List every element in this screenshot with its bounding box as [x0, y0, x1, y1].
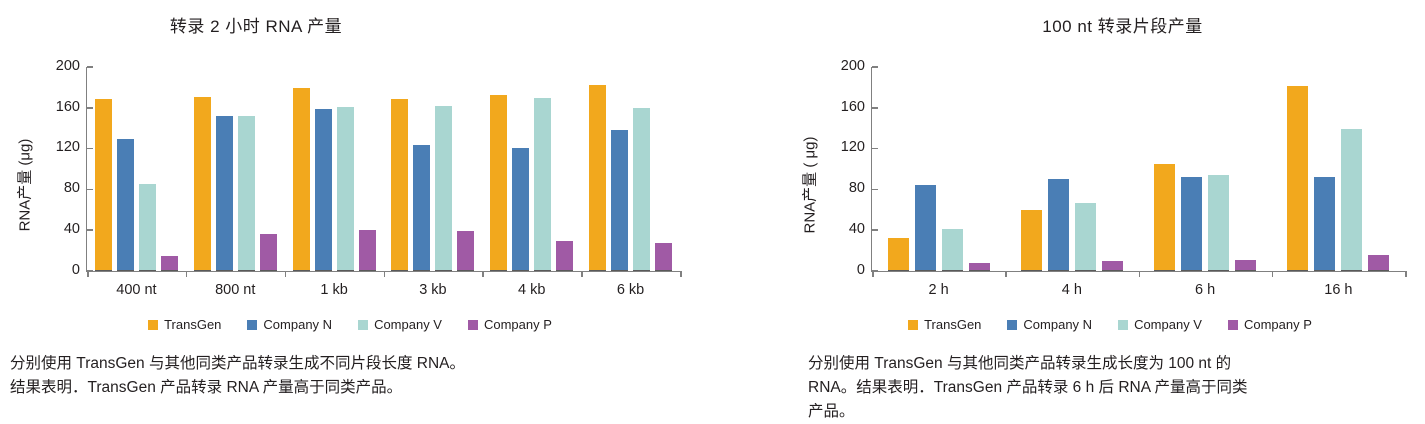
bar-company-v[interactable] [1208, 175, 1229, 271]
bar-transgen[interactable] [888, 238, 909, 271]
legend-label: Company N [263, 317, 332, 332]
y-axis-label-left: RNA产量 (μg) [14, 139, 35, 232]
legend-item-company-n[interactable]: Company N [1007, 317, 1092, 332]
bar-transgen[interactable] [194, 97, 211, 271]
chart-panel-left: 转录 2 小时 RNA 产量 RNA产量 (μg) 04080120160200… [0, 0, 712, 414]
x-axis-tick-label: 6 kb [581, 282, 680, 298]
chart-caption-left: 分别使用 TransGen 与其他同类产品转录生成不同片段长度 RNA。 结果表… [10, 352, 700, 400]
x-axis-tick-mark [1139, 271, 1141, 277]
x-axis-tick-label: 3 kb [383, 282, 482, 298]
legend-label: Company V [374, 317, 442, 332]
bar-company-v[interactable] [1075, 203, 1096, 271]
bar-company-n[interactable] [216, 116, 233, 271]
bar-group: 16 h [1272, 67, 1405, 271]
legend-swatch-icon [1228, 320, 1238, 330]
bar-group: 400 nt [87, 67, 186, 271]
bar-company-v[interactable] [1341, 129, 1362, 271]
plot-wrapper-left: RNA产量 (μg) 04080120160200400 nt800 nt1 k… [40, 60, 680, 310]
bar-group: 2 h [872, 67, 1005, 271]
bar-company-v[interactable] [942, 229, 963, 271]
bar-group: 800 nt [186, 67, 285, 271]
plot-area-right: 040801201602002 h4 h6 h16 h [871, 67, 1405, 272]
x-axis-tick-mark [186, 271, 188, 277]
bar-transgen[interactable] [95, 99, 112, 271]
bar-company-v[interactable] [139, 184, 156, 271]
x-axis-tick-label: 1 kb [285, 282, 384, 298]
x-axis-tick-label: 16 h [1272, 282, 1405, 298]
bar-company-v[interactable] [435, 106, 452, 271]
bar-company-p[interactable] [1235, 260, 1256, 271]
bar-company-p[interactable] [260, 234, 277, 271]
legend-label: TransGen [164, 317, 221, 332]
legend-swatch-icon [468, 320, 478, 330]
legend-item-transgen[interactable]: TransGen [148, 317, 221, 332]
bar-company-p[interactable] [655, 243, 672, 271]
x-axis-tick-mark [285, 271, 287, 277]
bar-group: 6 h [1139, 67, 1272, 271]
x-axis-tick-mark [1005, 271, 1007, 277]
legend-swatch-icon [1007, 320, 1017, 330]
x-axis-tick-label: 800 nt [186, 282, 285, 298]
bar-company-p[interactable] [556, 241, 573, 271]
x-axis-tick-label: 2 h [872, 282, 1005, 298]
bar-group: 4 kb [482, 67, 581, 271]
x-axis-tick-mark [1272, 271, 1274, 277]
legend-item-company-p[interactable]: Company P [468, 317, 552, 332]
bar-company-v[interactable] [633, 108, 650, 271]
legend-label: TransGen [924, 317, 981, 332]
y-axis-tick-label: 80 [64, 181, 87, 196]
bar-company-n[interactable] [1314, 177, 1335, 271]
bar-transgen[interactable] [589, 85, 606, 271]
y-axis-tick-label: 80 [849, 181, 872, 196]
bar-company-p[interactable] [1368, 255, 1389, 271]
bar-company-p[interactable] [969, 263, 990, 271]
x-axis-tick-label: 6 h [1139, 282, 1272, 298]
bar-transgen[interactable] [1287, 86, 1308, 271]
bar-transgen[interactable] [490, 95, 507, 271]
bar-company-p[interactable] [457, 231, 474, 271]
bar-company-v[interactable] [238, 116, 255, 271]
bar-groups: 400 nt800 nt1 kb3 kb4 kb6 kb [87, 67, 680, 271]
plot-wrapper-right: RNA产量 ( μg) 040801201602002 h4 h6 h16 h [825, 60, 1405, 310]
x-axis-tick-mark [872, 271, 874, 277]
plot-area-left: 04080120160200400 nt800 nt1 kb3 kb4 kb6 … [86, 67, 680, 272]
y-axis-tick-label: 120 [56, 140, 87, 155]
bar-transgen[interactable] [293, 88, 310, 271]
legend-swatch-icon [1118, 320, 1128, 330]
bar-transgen[interactable] [1154, 164, 1175, 271]
chart-title-right: 100 nt 转录片段产量 [810, 12, 1425, 37]
bar-company-n[interactable] [117, 139, 134, 271]
legend-label: Company V [1134, 317, 1202, 332]
y-axis-tick-label: 200 [841, 59, 872, 74]
y-axis-tick-label: 0 [72, 263, 87, 278]
y-axis-label-right: RNA产量 ( μg) [799, 137, 820, 234]
legend-swatch-icon [247, 320, 257, 330]
bar-groups: 2 h4 h6 h16 h [872, 67, 1405, 271]
y-axis-tick-label: 40 [849, 222, 872, 237]
y-axis-tick-label: 160 [841, 100, 872, 115]
bar-company-n[interactable] [413, 145, 430, 271]
bar-company-n[interactable] [1048, 179, 1069, 271]
bar-company-n[interactable] [315, 109, 332, 271]
x-axis-tick-mark [384, 271, 386, 277]
bar-company-n[interactable] [1181, 177, 1202, 271]
legend-label: Company P [1244, 317, 1312, 332]
y-axis-tick-label: 0 [857, 263, 872, 278]
bar-transgen[interactable] [391, 99, 408, 271]
legend-item-company-v[interactable]: Company V [358, 317, 442, 332]
y-axis-tick-label: 40 [64, 222, 87, 237]
legend-swatch-icon [358, 320, 368, 330]
chart-title-left: 转录 2 小时 RNA 产量 [0, 12, 612, 37]
x-axis-tick-mark [482, 271, 484, 277]
legend-swatch-icon [908, 320, 918, 330]
legend-item-company-p[interactable]: Company P [1228, 317, 1312, 332]
bar-transgen[interactable] [1021, 210, 1042, 271]
x-axis-tick-mark [87, 271, 89, 277]
chart-caption-right: 分别使用 TransGen 与其他同类产品转录生成长度为 100 nt 的 RN… [808, 352, 1423, 424]
legend-item-company-n[interactable]: Company N [247, 317, 332, 332]
chart-legend-right: TransGenCompany NCompany VCompany P [825, 317, 1395, 332]
bar-group: 3 kb [383, 67, 482, 271]
bar-group: 4 h [1005, 67, 1138, 271]
y-axis-tick-label: 120 [841, 140, 872, 155]
bar-company-n[interactable] [512, 148, 529, 271]
y-axis-tick-label: 160 [56, 100, 87, 115]
legend-label: Company P [484, 317, 552, 332]
bar-group: 6 kb [581, 67, 680, 271]
bar-company-n[interactable] [611, 130, 628, 271]
x-axis-tick-mark [1405, 271, 1407, 277]
bar-company-v[interactable] [534, 98, 551, 271]
x-axis-tick-label: 4 h [1005, 282, 1138, 298]
y-axis-tick-label: 200 [56, 59, 87, 74]
bar-company-p[interactable] [1102, 261, 1123, 271]
chart-legend-left: TransGenCompany NCompany VCompany P [40, 317, 660, 332]
legend-item-company-v[interactable]: Company V [1118, 317, 1202, 332]
x-axis-tick-mark [581, 271, 583, 277]
bar-company-n[interactable] [915, 185, 936, 271]
x-axis-tick-label: 400 nt [87, 282, 186, 298]
bar-company-p[interactable] [161, 256, 178, 271]
x-axis-tick-label: 4 kb [482, 282, 581, 298]
bar-company-v[interactable] [337, 107, 354, 271]
legend-label: Company N [1023, 317, 1092, 332]
chart-panel-right: 100 nt 转录片段产量 RNA产量 ( μg) 04080120160200… [800, 0, 1425, 414]
x-axis-tick-mark [680, 271, 682, 277]
legend-swatch-icon [148, 320, 158, 330]
bar-company-p[interactable] [359, 230, 376, 271]
legend-item-transgen[interactable]: TransGen [908, 317, 981, 332]
bar-group: 1 kb [285, 67, 384, 271]
